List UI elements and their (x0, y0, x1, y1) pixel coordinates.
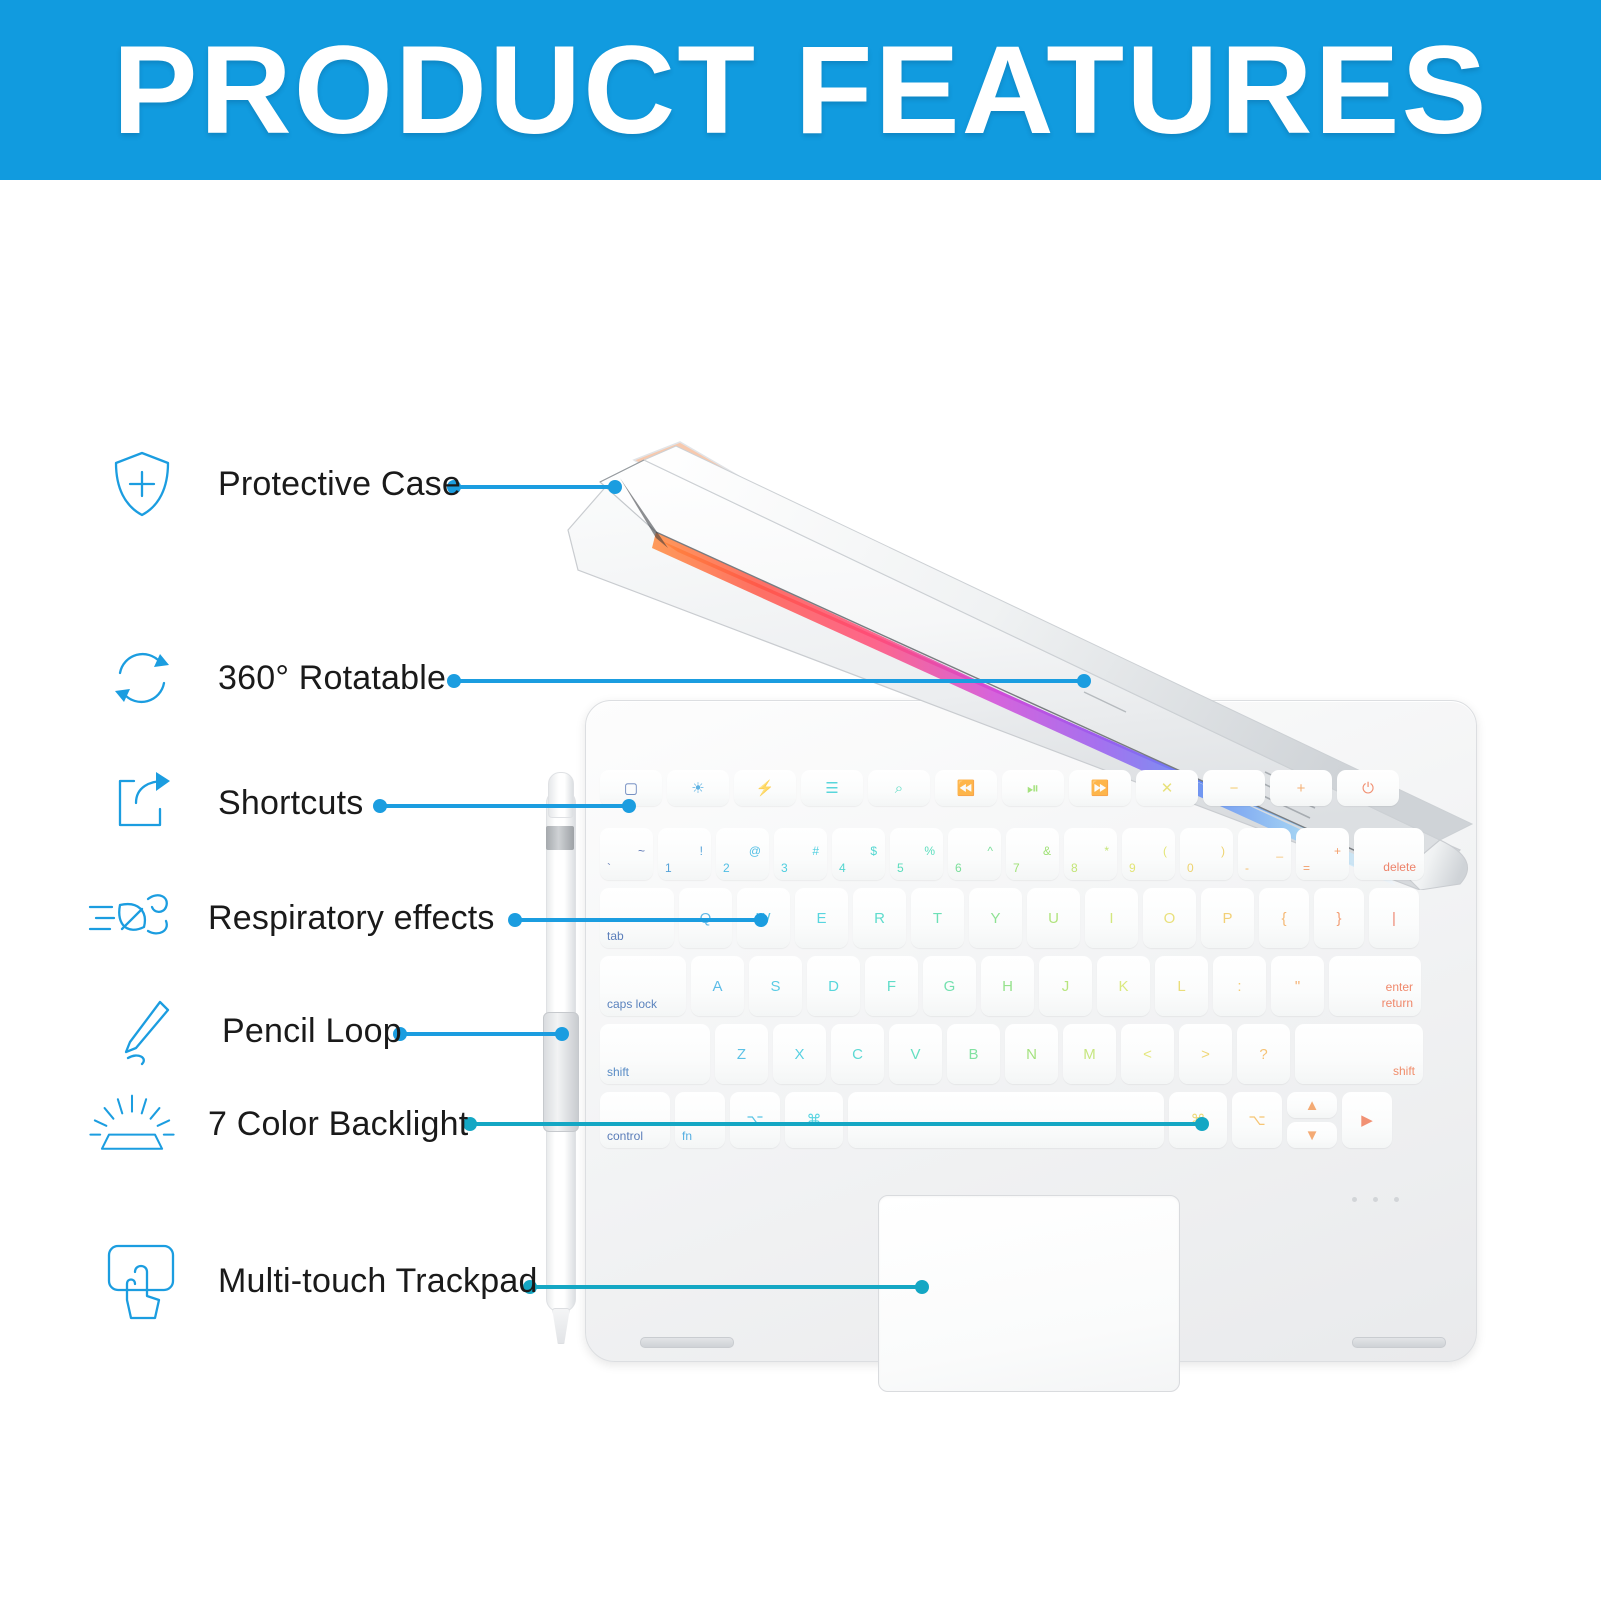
led-1 (1352, 1197, 1357, 1202)
key-glyph: ⌕ (895, 781, 903, 796)
key-a-caps lock[interactable]: caps lock (600, 956, 686, 1016)
key-glyph: ? (1259, 1047, 1267, 1062)
key-z->[interactable]: > (1179, 1024, 1232, 1084)
page-title: PRODUCT FEATURES (112, 28, 1488, 153)
keyboard-deck: ▢☀⚡☰⌕⏪⏯⏩✕−+⏻ ~`!1@2#3$4%5^6&7*8(9)0_-+=d… (600, 770, 1462, 1150)
key-label: @ (749, 844, 761, 858)
leader-line-protective-case (452, 485, 617, 489)
key-label-secondary: 3 (781, 861, 788, 875)
key-num-4[interactable]: $4 (832, 828, 885, 880)
key-volume-up[interactable]: + (1270, 770, 1332, 806)
key-backlight[interactable]: ⚡ (734, 770, 796, 806)
key-glyph: H (1002, 979, 1013, 994)
key-glyph: < (1143, 1047, 1152, 1062)
key-label: ^ (987, 844, 993, 858)
key-mod-⌥[interactable]: ⌥ (1232, 1092, 1282, 1148)
key-label-secondary: 6 (955, 861, 962, 875)
key-a-A[interactable]: A (691, 956, 744, 1016)
key-glyph: ✕ (1161, 781, 1174, 796)
key-z-N[interactable]: N (1005, 1024, 1058, 1084)
key-rewind[interactable]: ⏪ (935, 770, 997, 806)
key-label: fn (682, 1129, 692, 1143)
key-glyph: { (1281, 911, 1286, 926)
key-z-X[interactable]: X (773, 1024, 826, 1084)
key-label-secondary: = (1303, 861, 1310, 875)
feature-label: Shortcuts (218, 784, 363, 823)
key-a-K[interactable]: K (1097, 956, 1150, 1016)
key-glyph: E (816, 911, 826, 926)
key-a-S[interactable]: S (749, 956, 802, 1016)
key-z-M[interactable]: M (1063, 1024, 1116, 1084)
key-glyph: : (1237, 979, 1241, 994)
key-glyph: N (1026, 1047, 1037, 1062)
key-enter[interactable]: enterreturn (1329, 956, 1421, 1016)
key-glyph: ▲ (1305, 1098, 1320, 1113)
key-glyph: − (1230, 781, 1239, 796)
key-glyph: " (1295, 979, 1300, 994)
key-glyph: J (1062, 979, 1070, 994)
key-num-3[interactable]: #3 (774, 828, 827, 880)
key-mod-space4[interactable] (848, 1092, 1164, 1148)
led-2 (1373, 1197, 1378, 1202)
key-label: $ (870, 844, 877, 858)
feature-pencil-loop[interactable]: Pencil Loop (100, 985, 402, 1077)
key-glyph: L (1177, 979, 1185, 994)
key-a-"[interactable]: " (1271, 956, 1324, 1016)
key-glyph: ▢ (624, 781, 638, 796)
key-q-Y[interactable]: Y (969, 888, 1022, 948)
feature-trackpad[interactable]: Multi-touch Trackpad (96, 1235, 538, 1327)
leader-line-respiratory (513, 918, 763, 922)
header-banner: PRODUCT FEATURES (0, 0, 1601, 180)
key-label: % (924, 844, 935, 858)
key-label-secondary: 4 (839, 861, 846, 875)
key-glyph: ▶ (1361, 1113, 1373, 1128)
key-glyph: A (712, 979, 722, 994)
key-search[interactable]: ⌕ (868, 770, 930, 806)
key-num-8[interactable]: *8 (1064, 828, 1117, 880)
key-label: ! (700, 844, 703, 858)
leader-line-trackpad (528, 1285, 924, 1289)
key-num-10[interactable]: )0 (1180, 828, 1233, 880)
glowing-keyboard-icon (86, 1078, 178, 1170)
leaf-wind-icon (86, 872, 178, 964)
feature-respiratory-effects[interactable]: Respiratory effects (86, 872, 495, 964)
key-glyph: + (1297, 781, 1306, 796)
key-glyph: C (852, 1047, 863, 1062)
key-volume-down[interactable]: − (1203, 770, 1265, 806)
key-q-|[interactable]: | (1369, 888, 1419, 948)
feature-label: 360° Rotatable (218, 659, 446, 698)
led-3 (1394, 1197, 1399, 1202)
keyboard-number-row: ~`!1@2#3$4%5^6&7*8(9)0_-+=delete (600, 828, 1429, 880)
indicator-leds (1352, 1197, 1432, 1207)
key-glyph: Y (990, 911, 1000, 926)
leader-line-pencil-loop (398, 1032, 564, 1036)
key-label: ) (1221, 844, 1225, 858)
key-a-G[interactable]: G (923, 956, 976, 1016)
key-z-?[interactable]: ? (1237, 1024, 1290, 1084)
key-num-5[interactable]: %5 (890, 828, 943, 880)
key-num-1[interactable]: !1 (658, 828, 711, 880)
feature-rotatable[interactable]: 360° Rotatable (96, 632, 446, 724)
key-num-2[interactable]: @2 (716, 828, 769, 880)
key-brightness[interactable]: ☀ (667, 770, 729, 806)
feature-shortcuts[interactable]: Shortcuts (96, 757, 363, 849)
keyboard-bottom-letter-row: shiftZXCVBNM<>?shift (600, 1024, 1428, 1084)
key-glyph: G (944, 979, 956, 994)
key-mod-fn[interactable]: fn (675, 1092, 725, 1148)
keyboard-function-row: ▢☀⚡☰⌕⏪⏯⏩✕−+⏻ (600, 770, 1404, 806)
base-foot-left (640, 1337, 734, 1348)
key-a-F[interactable]: F (865, 956, 918, 1016)
key-a-D[interactable]: D (807, 956, 860, 1016)
key-label: ( (1163, 844, 1167, 858)
key-label: shift (607, 1065, 629, 1079)
key-mod-control[interactable]: control (600, 1092, 670, 1148)
key-q-R[interactable]: R (853, 888, 906, 948)
pencil-band (546, 826, 574, 850)
key-label: ~ (638, 844, 645, 858)
key-glyph: ⏩ (1091, 781, 1110, 796)
key-label: + (1334, 844, 1341, 858)
key-glyph: T (933, 911, 942, 926)
key-label-secondary: ` (607, 861, 611, 875)
key-num-11[interactable]: _- (1238, 828, 1291, 880)
key-glyph: F (887, 979, 896, 994)
key-glyph: X (794, 1047, 804, 1062)
key-glyph: ☰ (825, 781, 838, 796)
key-glyph: > (1201, 1047, 1210, 1062)
key-arrow-up[interactable]: ▲ (1287, 1092, 1337, 1118)
pencil-cap (548, 772, 574, 818)
key-q-U[interactable]: U (1027, 888, 1080, 948)
key-q-O[interactable]: O (1143, 888, 1196, 948)
stylus-pencil (546, 772, 574, 1342)
key-glyph: U (1048, 911, 1059, 926)
leader-line-backlight (468, 1122, 1204, 1126)
key-label-secondary: 2 (723, 861, 730, 875)
key-fast-forward[interactable]: ⏩ (1069, 770, 1131, 806)
key-label: # (812, 844, 819, 858)
key-z-B[interactable]: B (947, 1024, 1000, 1084)
key-num-9[interactable]: (9 (1122, 828, 1175, 880)
key-glyph: ⏪ (957, 781, 976, 796)
key-z-C[interactable]: C (831, 1024, 884, 1084)
key-label-secondary: 9 (1129, 861, 1136, 875)
key-num-0[interactable]: ~` (600, 828, 653, 880)
key-glyph: O (1164, 911, 1176, 926)
key-num-6[interactable]: ^6 (948, 828, 1001, 880)
feature-label: Pencil Loop (222, 1012, 402, 1051)
key-glyph: V (910, 1047, 920, 1062)
key-a-:[interactable]: : (1213, 956, 1266, 1016)
key-glyph: R (874, 911, 885, 926)
product-features-infographic: PRODUCT FEATURES (0, 0, 1601, 1601)
key-q-P[interactable]: P (1201, 888, 1254, 948)
key-label: caps lock (607, 997, 657, 1011)
key-glyph: ⌥ (1248, 1113, 1265, 1128)
leader-line-shortcuts (378, 804, 631, 808)
key-num-13[interactable]: delete (1354, 828, 1424, 880)
key-label-secondary: 5 (897, 861, 904, 875)
key-label: & (1043, 844, 1051, 858)
key-z-shift[interactable]: shift (1295, 1024, 1423, 1084)
key-glyph: Z (737, 1047, 746, 1062)
key-play-pause[interactable]: ⏯ (1002, 770, 1064, 806)
key-label-secondary: 7 (1013, 861, 1020, 875)
shield-plus-icon (96, 438, 188, 530)
leader-line-rotatable (452, 679, 1086, 683)
arrow-key-cluster: ▲▼ (1287, 1092, 1337, 1148)
feature-label: Respiratory effects (208, 899, 495, 938)
touch-rectangle-icon (96, 1235, 188, 1327)
key-mod-⌥[interactable]: ⌥ (730, 1092, 780, 1148)
key-z-V[interactable]: V (889, 1024, 942, 1084)
key-glyph: ▼ (1305, 1128, 1320, 1143)
key-q-T[interactable]: T (911, 888, 964, 948)
key-z-<[interactable]: < (1121, 1024, 1174, 1084)
key-q-}[interactable]: } (1314, 888, 1364, 948)
key-num-12[interactable]: += (1296, 828, 1349, 880)
key-glyph: ☀ (691, 781, 704, 796)
key-mute[interactable]: ✕ (1136, 770, 1198, 806)
key-arrow-down[interactable]: ▼ (1287, 1122, 1337, 1148)
key-onscreen-keyboard[interactable]: ☰ (801, 770, 863, 806)
feature-backlight[interactable]: 7 Color Backlight (86, 1078, 468, 1170)
feature-protective-case[interactable]: Protective Case (96, 438, 461, 530)
keyboard-modifier-row: controlfn⌥⌘⌘⌥▲▼▶ (600, 1092, 1397, 1148)
key-a-L[interactable]: L (1155, 956, 1208, 1016)
key-glyph: } (1336, 911, 1341, 926)
keyboard-home-row: caps lockASDFGHJKL:"enterreturn (600, 956, 1426, 1016)
key-glyph: B (968, 1047, 978, 1062)
key-glyph: K (1118, 979, 1128, 994)
key-glyph: ⏻ (1362, 781, 1374, 796)
key-label: control (607, 1129, 643, 1143)
key-glyph: ⚡ (756, 781, 775, 796)
key-label: * (1104, 844, 1109, 858)
key-label-secondary: - (1245, 861, 1249, 875)
key-label: enter (1386, 980, 1413, 994)
key-z-shift[interactable]: shift (600, 1024, 710, 1084)
key-glyph: | (1392, 911, 1396, 926)
share-arrow-box-icon (96, 757, 188, 849)
pencil-icon (100, 985, 192, 1077)
rotate-arrows-icon (96, 632, 188, 724)
key-q-E[interactable]: E (795, 888, 848, 948)
pencil-tip (552, 1308, 570, 1344)
key-glyph: ⏯ (1027, 781, 1039, 796)
key-a-H[interactable]: H (981, 956, 1034, 1016)
feature-label: Multi-touch Trackpad (218, 1262, 538, 1301)
key-label: _ (1276, 844, 1283, 858)
key-mod-⌘[interactable]: ⌘ (785, 1092, 843, 1148)
key-glyph: S (770, 979, 780, 994)
key-glyph: P (1222, 911, 1232, 926)
key-q-{[interactable]: { (1259, 888, 1309, 948)
key-glyph: D (828, 979, 839, 994)
key-a-J[interactable]: J (1039, 956, 1092, 1016)
key-glyph: I (1109, 911, 1113, 926)
feature-label: Protective Case (218, 465, 461, 504)
key-label-secondary: return (1382, 996, 1413, 1010)
base-foot-right (1352, 1337, 1446, 1348)
key-label-secondary: 8 (1071, 861, 1078, 875)
key-z-Z[interactable]: Z (715, 1024, 768, 1084)
key-lock[interactable]: ⏻ (1337, 770, 1399, 806)
key-label-secondary: 0 (1187, 861, 1194, 875)
key-label: shift (1393, 1064, 1415, 1078)
key-label: tab (607, 929, 624, 943)
key-label: delete (1383, 860, 1416, 874)
key-glyph: M (1083, 1047, 1096, 1062)
key-arrow-right[interactable]: ▶ (1342, 1092, 1392, 1148)
feature-label: 7 Color Backlight (208, 1105, 468, 1144)
key-q-I[interactable]: I (1085, 888, 1138, 948)
key-num-7[interactable]: &7 (1006, 828, 1059, 880)
key-label-secondary: 1 (665, 861, 672, 875)
